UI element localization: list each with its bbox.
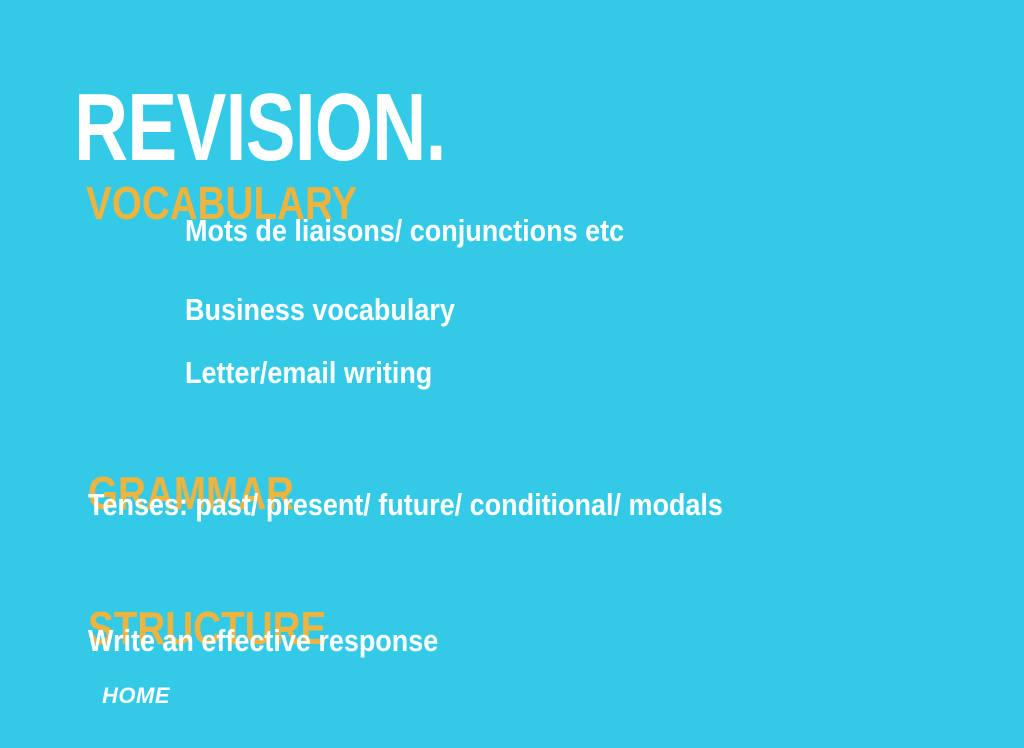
- list-item: Letter/email writing: [185, 357, 432, 388]
- list-item: Write an effective response: [88, 625, 438, 656]
- revision-slide: REVISION. VOCABULARY Mots de liaisons/ c…: [0, 0, 1024, 748]
- list-item: Business vocabulary: [185, 294, 455, 325]
- page-title: REVISION.: [74, 80, 446, 176]
- home-link[interactable]: HOME: [102, 685, 170, 707]
- list-item: Tenses: past/ present/ future/ condition…: [88, 489, 723, 520]
- list-item: Mots de liaisons/ conjunctions etc: [185, 215, 624, 246]
